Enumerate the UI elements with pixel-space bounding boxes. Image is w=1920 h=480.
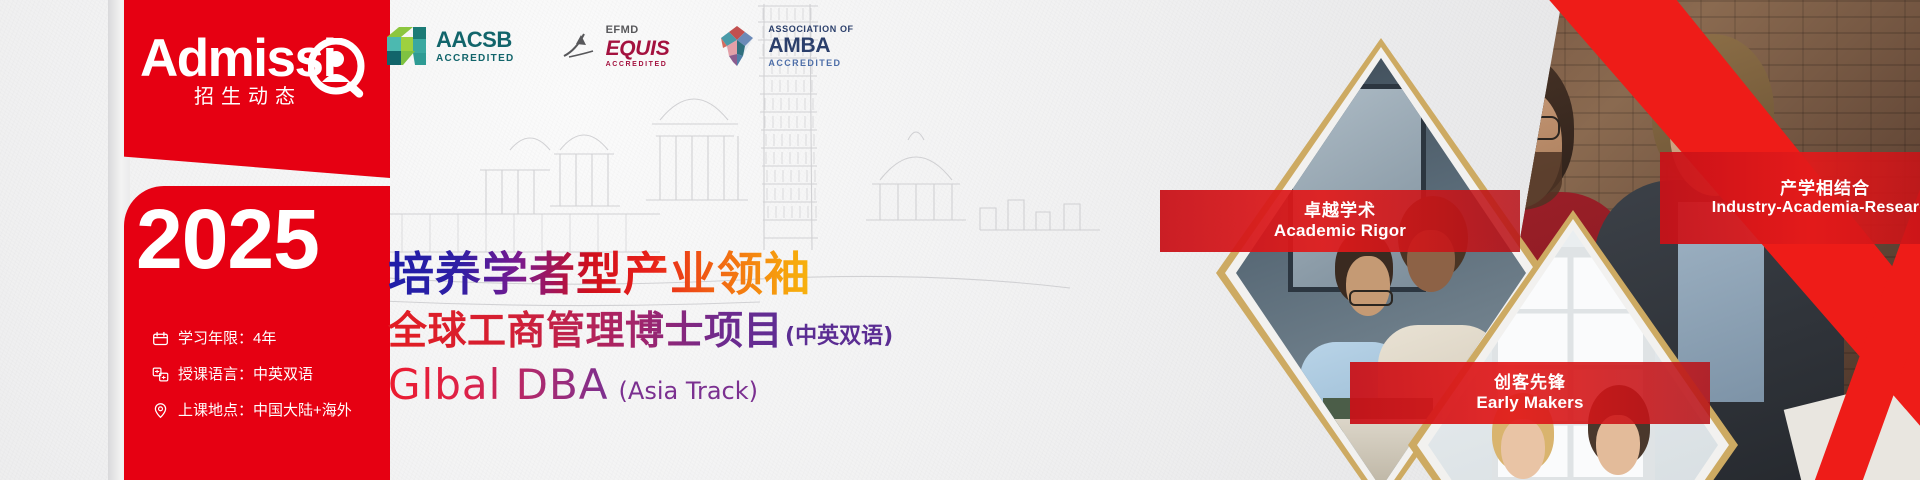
program-title-en-note: (Asia Track) [619,376,758,406]
fact-duration: 学习年限：4年 [152,330,382,347]
person-face [1501,419,1545,479]
accreditation-logos: AACSB ACCREDITED EFMD EQUIS ACCREDITED [385,24,854,68]
location-pin-icon [152,402,169,419]
equis-name: EQUIS [606,38,670,59]
headline-block: 培养学者型产业领袖 全球工商管理博士项目 (中英双语) Glbal DBA (A… [388,248,893,408]
amba-sub: ACCREDITED [768,59,853,68]
program-facts: 学习年限：4年 授课语言：中英双语 上课地点：中国大陆+海外 [152,330,382,438]
program-title-cn-note: (中英双语) [785,320,893,354]
aacsb-sub: ACCREDITED [436,54,515,64]
calendar-icon [152,330,169,347]
program-title-cn: 全球工商管理博士项目 [388,310,783,354]
aacsb-name: AACSB [436,29,515,51]
person-face [1346,256,1390,316]
admission-logo-chinese: 招生动态 [194,80,302,109]
amba-name: AMBA [768,35,853,56]
accreditation-aacsb: AACSB ACCREDITED [385,25,515,67]
efmd-label: EFMD [606,25,639,36]
fact-language: 授课语言：中英双语 [152,366,382,383]
tagline: 培养学者型产业领袖 [388,248,893,300]
aacsb-cube-icon [385,25,427,67]
fact-label: 学习年限：4年 [178,330,276,347]
feature-cn: 卓越学术 [1160,201,1520,221]
program-title-cn-row: 全球工商管理博士项目 (中英双语) [388,310,893,354]
program-title-en: Glbal DBA [388,362,609,408]
program-title-en-row: Glbal DBA (Asia Track) [388,362,893,408]
feature-caption-industry-academia-research: 产学相结合 Industry-Academia-Research [1660,152,1920,244]
admission-banner: AACSB ACCREDITED EFMD EQUIS ACCREDITED [0,0,1920,480]
admission-year: 2025 [136,196,319,282]
admission-logo: Admissi 招生动态 [140,30,384,120]
fact-location: 上课地点：中国大陆+海外 [152,402,382,419]
glasses-icon [1349,290,1393,306]
left-red-panel: Admissi 招生动态 2025 学习年限：4年 [0,0,390,480]
fact-label: 上课地点：中国大陆+海外 [178,402,352,419]
language-icon [152,366,169,383]
feature-en: Industry-Academia-Research [1660,199,1920,218]
amba-diamond-icon [715,24,759,68]
feature-en: Academic Rigor [1160,221,1520,241]
amba-top: ASSOCIATION OF [768,25,853,34]
person-magnifier-icon [308,38,370,100]
feature-cn: 产学相结合 [1660,179,1920,199]
accreditation-equis: EFMD EQUIS ACCREDITED [561,25,670,68]
fact-label: 授课语言：中英双语 [178,366,313,383]
efmd-swoosh-icon [561,29,597,63]
feature-caption-academic-rigor: 卓越学术 Academic Rigor [1160,190,1520,252]
feature-caption-early-makers: 创客先锋 Early Makers [1350,362,1710,424]
feature-cn: 创客先锋 [1350,373,1710,393]
accreditation-amba: ASSOCIATION OF AMBA ACCREDITED [715,24,853,68]
feature-en: Early Makers [1350,393,1710,413]
equis-sub: ACCREDITED [606,61,668,68]
